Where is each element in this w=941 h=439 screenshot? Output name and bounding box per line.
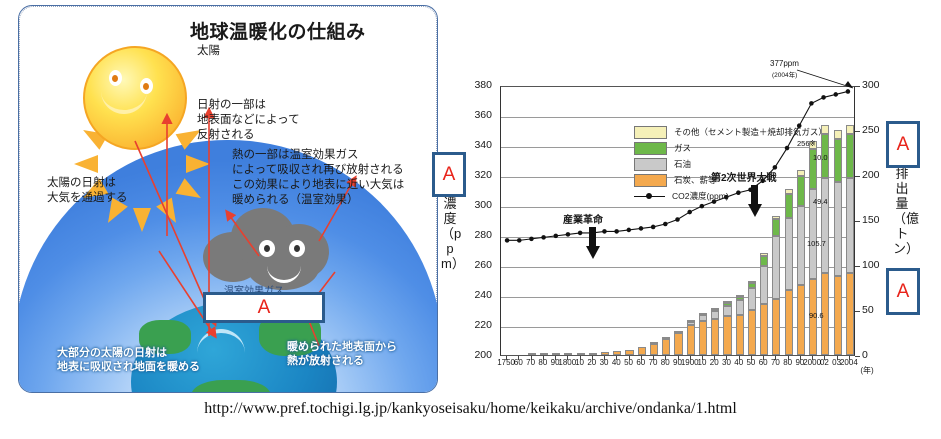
line-data-point (614, 229, 619, 234)
x-tick-mark (543, 356, 544, 360)
x-tick-mark (653, 356, 654, 360)
y-tick-mark-right (855, 266, 860, 267)
annotation-377ppm-year: (2004年) (772, 69, 797, 79)
x-tick-mark (555, 356, 556, 360)
line-data-point (639, 226, 644, 231)
annotation-value-gas-49: 49.4 (813, 197, 828, 206)
y-tick-label-right: 300 (862, 79, 892, 91)
x-tick-mark (641, 356, 642, 360)
diagram-title: 地球温暖化の仕組み (190, 17, 366, 44)
y-tick-mark-right (855, 86, 860, 87)
x-tick-mark (849, 356, 850, 360)
line-data-point (651, 225, 656, 230)
line-data-point (821, 95, 826, 100)
x-tick-mark (567, 356, 568, 360)
y-tick-label-left: 280 (458, 229, 492, 241)
overlay-answer-box-ghg[interactable]: A (203, 292, 325, 323)
landmass-icon (191, 380, 271, 393)
y-tick-label-left: 200 (458, 349, 492, 361)
line-data-point (517, 238, 522, 243)
legend-swatch-co2-line (634, 191, 665, 202)
y-tick-mark-right (855, 221, 860, 222)
x-tick-mark (518, 356, 519, 360)
note-reradiated: 暖められた地表面から 熱が放射される (287, 340, 397, 368)
chart-x-axis-labels: 1750607080901800102030405060708090190010… (500, 358, 855, 372)
overlay-answer-box-right-axis-top[interactable]: A (886, 121, 920, 168)
x-tick-mark (726, 356, 727, 360)
x-tick-mark (800, 356, 801, 360)
x-tick-mark (531, 356, 532, 360)
y-tick-label-left: 360 (458, 109, 492, 121)
annotation-377ppm: 377ppm (770, 59, 799, 68)
chart-legend: その他（セメント製造＋焼却排気ガス） ガス 石油 石炭、薪等 CO2濃度(ppm… (634, 124, 849, 204)
x-tick-mark (678, 356, 679, 360)
x-tick-mark (629, 356, 630, 360)
annotation-arrow-stem (589, 227, 596, 247)
annotation-value-coal-90: 90.6 (809, 311, 824, 320)
annotation-arrow-head (586, 246, 600, 259)
legend-swatch-other (634, 126, 667, 139)
annotation-value-256: 256※ (797, 139, 816, 148)
x-tick-mark (824, 356, 825, 360)
note-reflection: 日射の一部は 地表面などによって 反射される (197, 98, 300, 143)
sun-icon (65, 28, 201, 164)
y-tick-label-right: 150 (862, 214, 892, 226)
y-tick-label-left: 340 (458, 139, 492, 151)
note-absorbed: 大部分の太陽の日射は 地表に吸収され地面を暖める (57, 346, 200, 374)
x-tick-mark (714, 356, 715, 360)
annotation-value-oil-105: 105.7 (807, 239, 826, 248)
annotation-leader-line (795, 68, 865, 94)
y-tick-mark-right (855, 356, 860, 357)
x-tick-mark (580, 356, 581, 360)
y-tick-mark-right (855, 131, 860, 132)
y-tick-mark-right (855, 176, 860, 177)
x-tick-mark (751, 356, 752, 360)
line-data-point (541, 235, 546, 240)
legend-label-gas: ガス (674, 143, 691, 154)
legend-label-other: その他（セメント製造＋焼却排気ガス） (674, 127, 827, 138)
legend-swatch-coal (634, 174, 667, 187)
line-data-point (505, 238, 510, 243)
y-tick-label-left: 380 (458, 79, 492, 91)
overlay-answer-box-right-axis-bottom[interactable]: A (886, 268, 920, 315)
y-tick-mark-right (855, 311, 860, 312)
chart-plot-area: その他（セメント製造＋焼却排気ガス） ガス 石油 石炭、薪等 CO2濃度(ppm… (500, 86, 855, 356)
line-data-point (529, 237, 534, 242)
line-data-point (578, 231, 583, 236)
cloud-icon (197, 202, 335, 294)
y-axis-left-label: 濃度（ppm） (441, 196, 459, 271)
line-data-point (553, 234, 558, 239)
sun-label: 太陽 (197, 44, 220, 59)
line-data-point (700, 204, 705, 209)
x-tick-mark (665, 356, 666, 360)
annotation-arrow-head (748, 204, 762, 217)
x-tick-mark (616, 356, 617, 360)
legend-swatch-oil (634, 158, 667, 171)
x-tick-mark (506, 356, 507, 360)
line-data-point (602, 229, 607, 234)
note-greenhouse-effect: 熱の一部は温室効果ガス によって吸収され再び放射される この効果により地表に近い… (232, 148, 404, 208)
legend-label-co2-line: CO2濃度(ppm) (672, 191, 729, 202)
line-data-point (663, 222, 668, 227)
line-data-point (809, 101, 814, 106)
x-tick-mark (837, 356, 838, 360)
co2-emissions-chart: その他（セメント製造＋焼却排気ガス） ガス 石油 石炭、薪等 CO2濃度(ppm… (440, 60, 910, 390)
source-url[interactable]: http://www.pref.tochigi.lg.jp/kankyoseis… (0, 400, 941, 418)
annotation-wwii: 第2次世界大戦 (711, 169, 777, 184)
line-data-point (687, 210, 692, 215)
y-tick-label-left: 240 (458, 289, 492, 301)
x-tick-mark (788, 356, 789, 360)
line-data-point (566, 232, 571, 237)
x-tick-mark (592, 356, 593, 360)
line-data-point (675, 217, 680, 222)
annotation-industrial-revolution: 産業革命 (563, 211, 603, 226)
y-tick-label-left: 300 (458, 199, 492, 211)
y-tick-label-left: 220 (458, 319, 492, 331)
annotation-arrow-stem (751, 185, 758, 205)
note-sunlight-passes: 太陽の日射は 大気を通過する (47, 176, 128, 206)
x-tick-mark (812, 356, 813, 360)
legend-item-other: その他（セメント製造＋焼却排気ガス） (634, 124, 849, 140)
legend-label-oil: 石油 (674, 159, 691, 170)
x-tick-mark (702, 356, 703, 360)
greenhouse-effect-diagram: 太陽 日射の一部は 地表面などによって 反射される 熱の一部は (18, 5, 438, 393)
x-axis-unit-label: (年) (857, 366, 877, 375)
annotation-value-other-10: 10.0 (813, 153, 828, 162)
line-data-point (627, 228, 632, 233)
x-tick-mark (775, 356, 776, 360)
x-tick-mark (739, 356, 740, 360)
x-tick-mark (604, 356, 605, 360)
x-tick-mark (690, 356, 691, 360)
y-axis-right-label: 排出量（億トン） (893, 166, 911, 256)
legend-swatch-gas (634, 142, 667, 155)
y-tick-label-right: 200 (862, 169, 892, 181)
overlay-answer-box-left-axis[interactable]: A (432, 152, 466, 197)
y-tick-label-right: 0 (862, 349, 892, 361)
x-tick-mark (763, 356, 764, 360)
